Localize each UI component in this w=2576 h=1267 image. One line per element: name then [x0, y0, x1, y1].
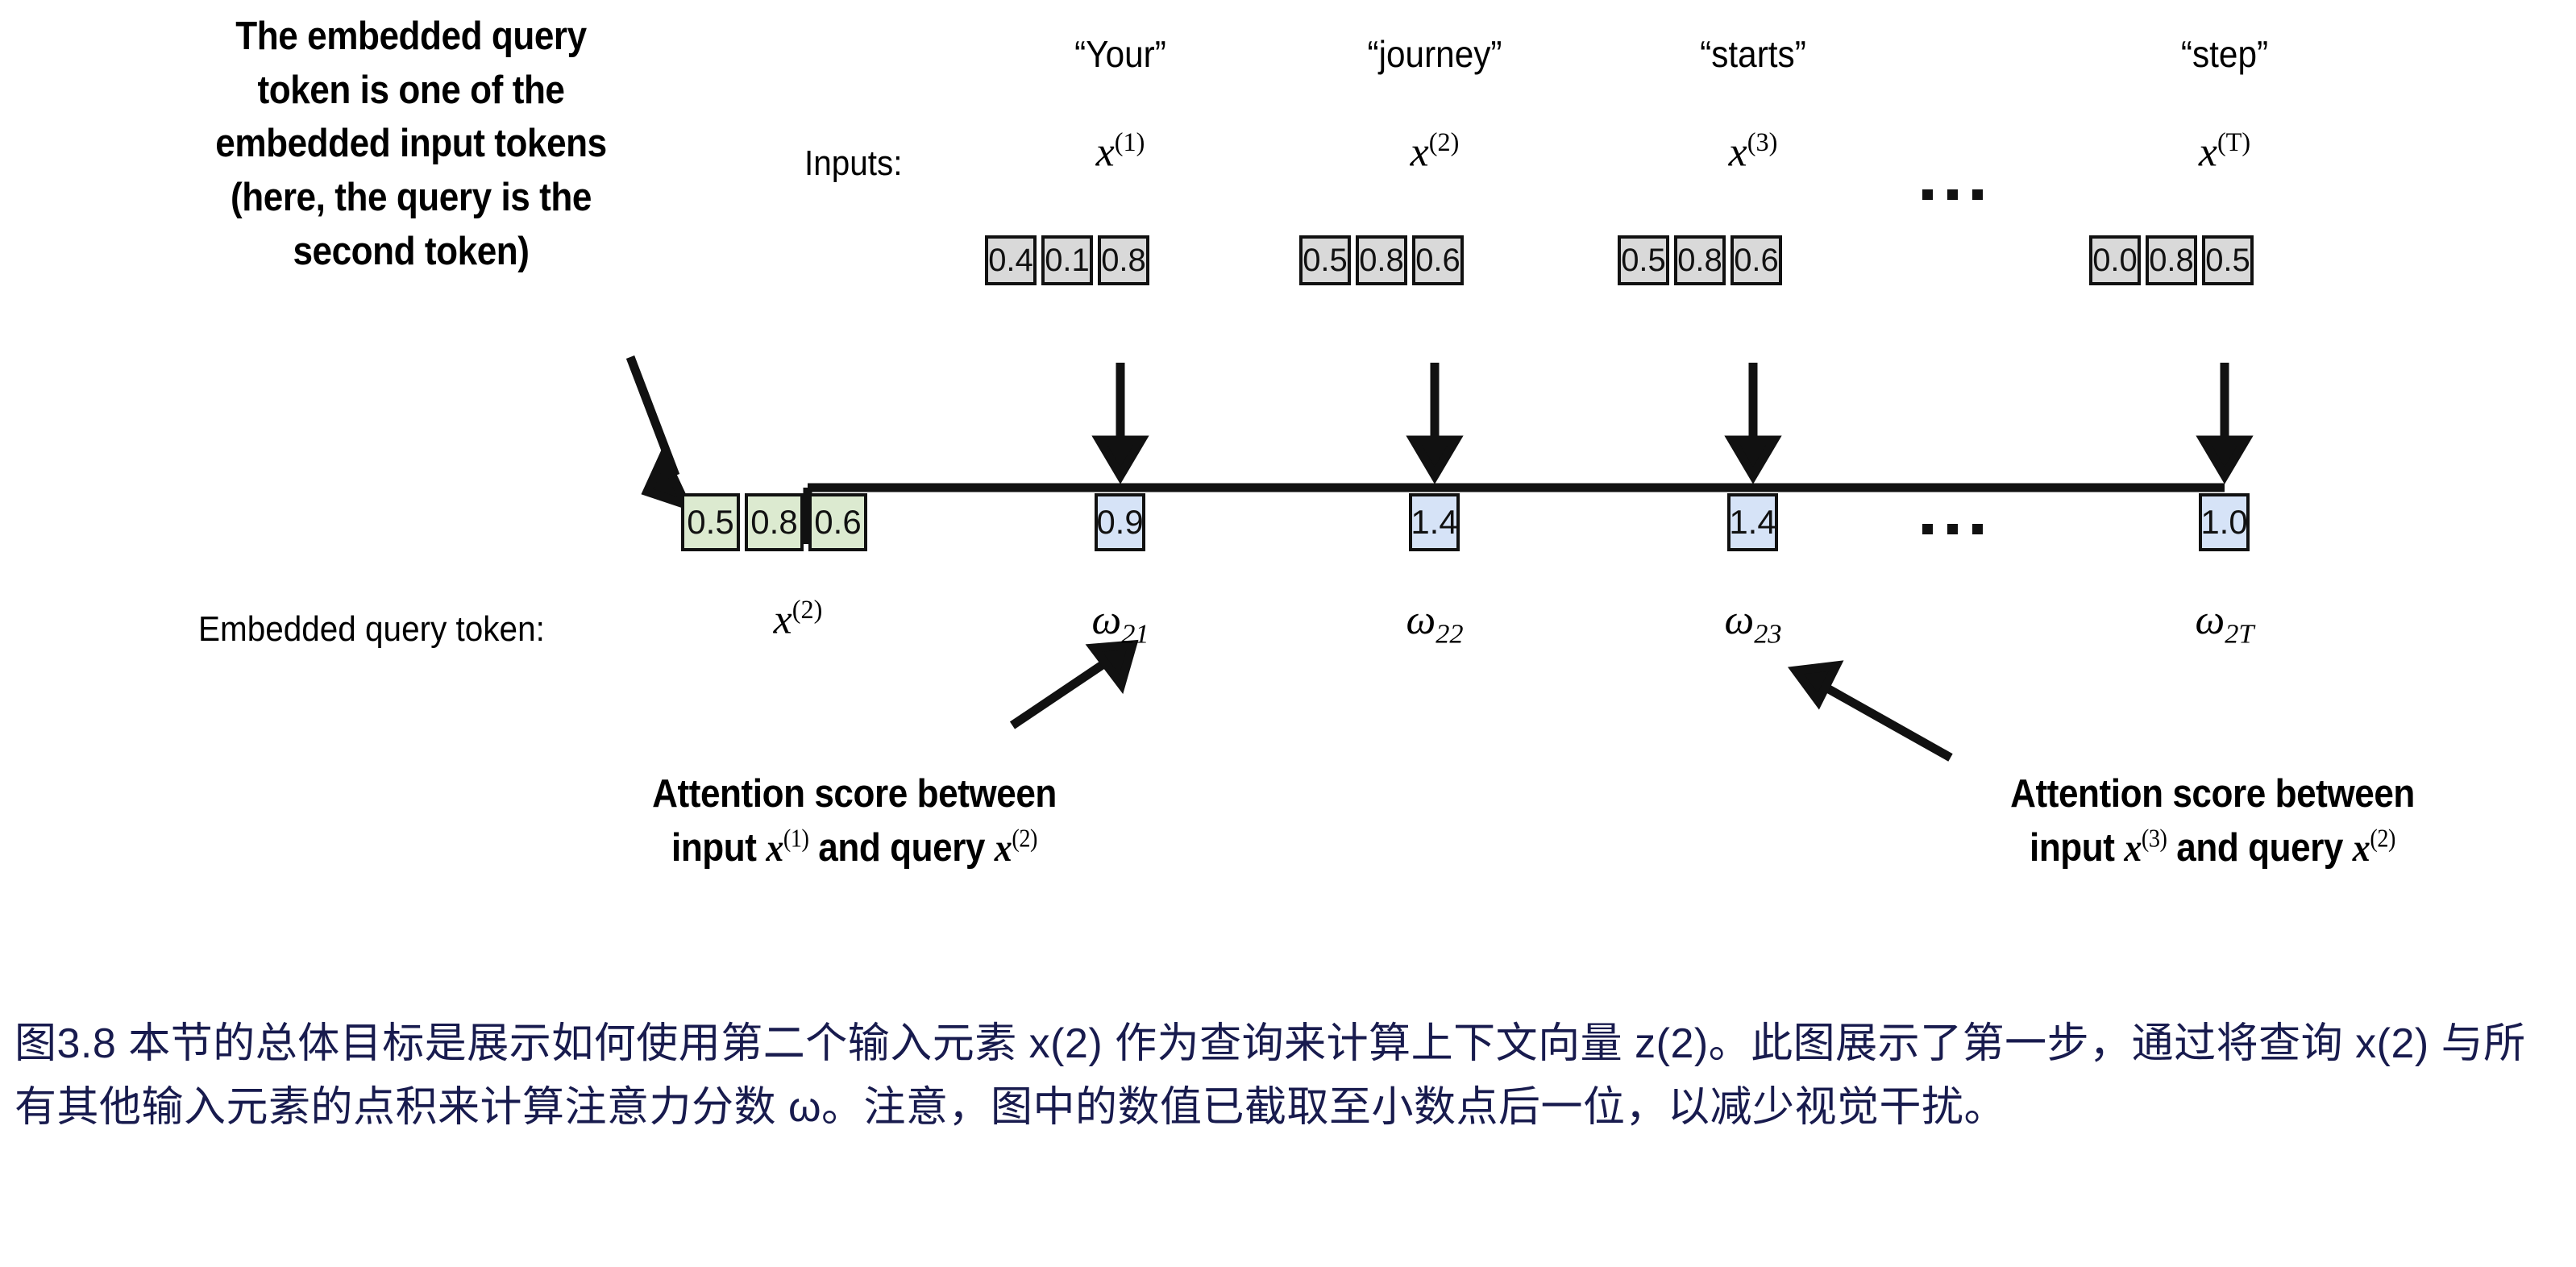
token-symbol-3-sup: (3)	[1747, 127, 1778, 156]
score-symbol-1-base: ω	[1091, 597, 1121, 643]
embedded-query-row: 0.5 0.8 0.6	[681, 493, 867, 551]
query-cell: 0.5	[681, 493, 740, 551]
figure-caption: 图3.8 本节的总体目标是展示如何使用第二个输入元素 x(2) 作为查询来计算上…	[15, 1012, 2561, 1140]
note-right-input-word: input	[2030, 826, 2124, 870]
note-attention-score-left-line-2: input x(1) and query x(2)	[579, 821, 1130, 875]
note-left-x1: x	[766, 825, 783, 870]
ellipsis-dot	[1922, 524, 1933, 534]
note-left-x1-sup: (1)	[783, 824, 809, 852]
token-symbol-3: x(3)	[1592, 127, 1914, 176]
input-cell: 0.8	[1356, 235, 1407, 285]
input-cell: 0.4	[985, 235, 1037, 285]
note-left-x2: x	[995, 825, 1012, 870]
note-right-and-query-word: and query	[2167, 826, 2352, 870]
score-cell-2: 1.4	[1409, 493, 1460, 551]
token-symbol-1-sup: (1)	[1115, 127, 1145, 156]
query-cell: 0.6	[808, 493, 867, 551]
input-cell: 0.5	[1299, 235, 1351, 285]
token-symbol-2-sup: (2)	[1429, 127, 1460, 156]
note-left-x2-sup: (2)	[1012, 824, 1037, 852]
token-symbol-2: x(2)	[1273, 127, 1596, 176]
token-symbol-4-base: x	[2199, 129, 2217, 175]
note-left-input-word: input	[671, 826, 766, 870]
note-embedded-query-line-5: second token)	[164, 225, 658, 279]
ellipsis-dot	[1972, 189, 1983, 200]
token-symbol-2-base: x	[1411, 129, 1429, 175]
note-right-x2-sup: (2)	[2370, 824, 2395, 852]
score-cell-1: 0.9	[1095, 493, 1145, 551]
note-embedded-query-line-2: token is one of the	[164, 64, 658, 118]
input-embedding-row-4: 0.0 0.8 0.5	[2089, 235, 2254, 285]
input-cell: 0.1	[1041, 235, 1093, 285]
token-symbol-4: x(T)	[2063, 127, 2386, 176]
note-embedded-query-line-4: (here, the query is the	[164, 171, 658, 225]
note-attention-score-right-line-1: Attention score between	[1930, 767, 2495, 821]
note-attention-score-left-line-1: Attention score between	[579, 767, 1130, 821]
score-symbol-3: ω23	[1592, 596, 1914, 650]
token-symbol-4-sup: (T)	[2217, 127, 2250, 156]
token-word-2: “journey”	[1286, 32, 1583, 76]
score-symbol-1-sub: 21	[1121, 618, 1149, 649]
token-word-4: “step”	[2076, 32, 2373, 76]
ellipsis-dot	[1972, 524, 1983, 534]
score-row-ellipsis	[1922, 524, 1983, 534]
embedded-query-symbol-base: x	[774, 596, 792, 642]
note-right-x1-sup: (3)	[2142, 824, 2167, 852]
input-cell: 0.8	[2146, 235, 2197, 285]
score-cell-3: 1.4	[1727, 493, 1778, 551]
token-symbol-1: x(1)	[959, 127, 1282, 176]
input-embedding-row-3: 0.5 0.8 0.6	[1618, 235, 1782, 285]
score-symbol-2-base: ω	[1406, 597, 1435, 643]
token-symbol-3-base: x	[1729, 129, 1747, 175]
input-cell: 0.8	[1098, 235, 1149, 285]
score-symbol-4-base: ω	[2196, 597, 2225, 643]
note-right-x2: x	[2353, 825, 2370, 870]
score-symbol-4-sub: 2T	[2225, 618, 2254, 649]
score-symbol-2-sub: 22	[1435, 618, 1463, 649]
inputs-label: Inputs:	[804, 143, 903, 184]
score-symbol-4: ω2T	[2063, 596, 2386, 650]
note-attention-score-right-line-2: input x(3) and query x(2)	[1930, 821, 2495, 875]
input-embedding-row-2: 0.5 0.8 0.6	[1299, 235, 1464, 285]
score-symbol-3-sub: 23	[1754, 618, 1781, 649]
token-word-1: “Your”	[972, 32, 1269, 76]
note-right-x1: x	[2124, 825, 2142, 870]
input-cell: 0.8	[1674, 235, 1726, 285]
note-left-and-query-word: and query	[808, 826, 994, 870]
ellipsis-dot	[1922, 189, 1933, 200]
query-cell: 0.8	[745, 493, 804, 551]
note-attention-score-right: Attention score between input x(3) and q…	[1930, 767, 2495, 874]
score-symbol-2: ω22	[1273, 596, 1596, 650]
note-embedded-query: The embedded query token is one of the e…	[164, 10, 658, 278]
input-cell: 0.5	[2202, 235, 2254, 285]
embedded-query-symbol: x(2)	[709, 595, 887, 643]
ellipsis-dot	[1947, 189, 1958, 200]
token-word-3: “starts”	[1605, 32, 1901, 76]
input-row-ellipsis	[1922, 189, 1983, 200]
score-cell-4: 1.0	[2199, 493, 2250, 551]
input-cell: 0.5	[1618, 235, 1669, 285]
input-cell: 0.6	[1412, 235, 1464, 285]
input-embedding-row-1: 0.4 0.1 0.8	[985, 235, 1149, 285]
note-attention-score-left: Attention score between input x(1) and q…	[579, 767, 1130, 874]
embedded-query-symbol-sup: (2)	[792, 595, 823, 624]
ellipsis-dot	[1947, 524, 1958, 534]
token-symbol-1-base: x	[1096, 129, 1115, 175]
embedded-query-token-label: Embedded query token:	[198, 609, 545, 650]
score-symbol-1: ω21	[959, 596, 1282, 650]
note-embedded-query-line-3: embedded input tokens	[164, 117, 658, 171]
input-cell: 0.0	[2089, 235, 2141, 285]
note-embedded-query-line-1: The embedded query	[164, 10, 658, 64]
score-symbol-3-base: ω	[1724, 597, 1754, 643]
input-cell: 0.6	[1730, 235, 1782, 285]
